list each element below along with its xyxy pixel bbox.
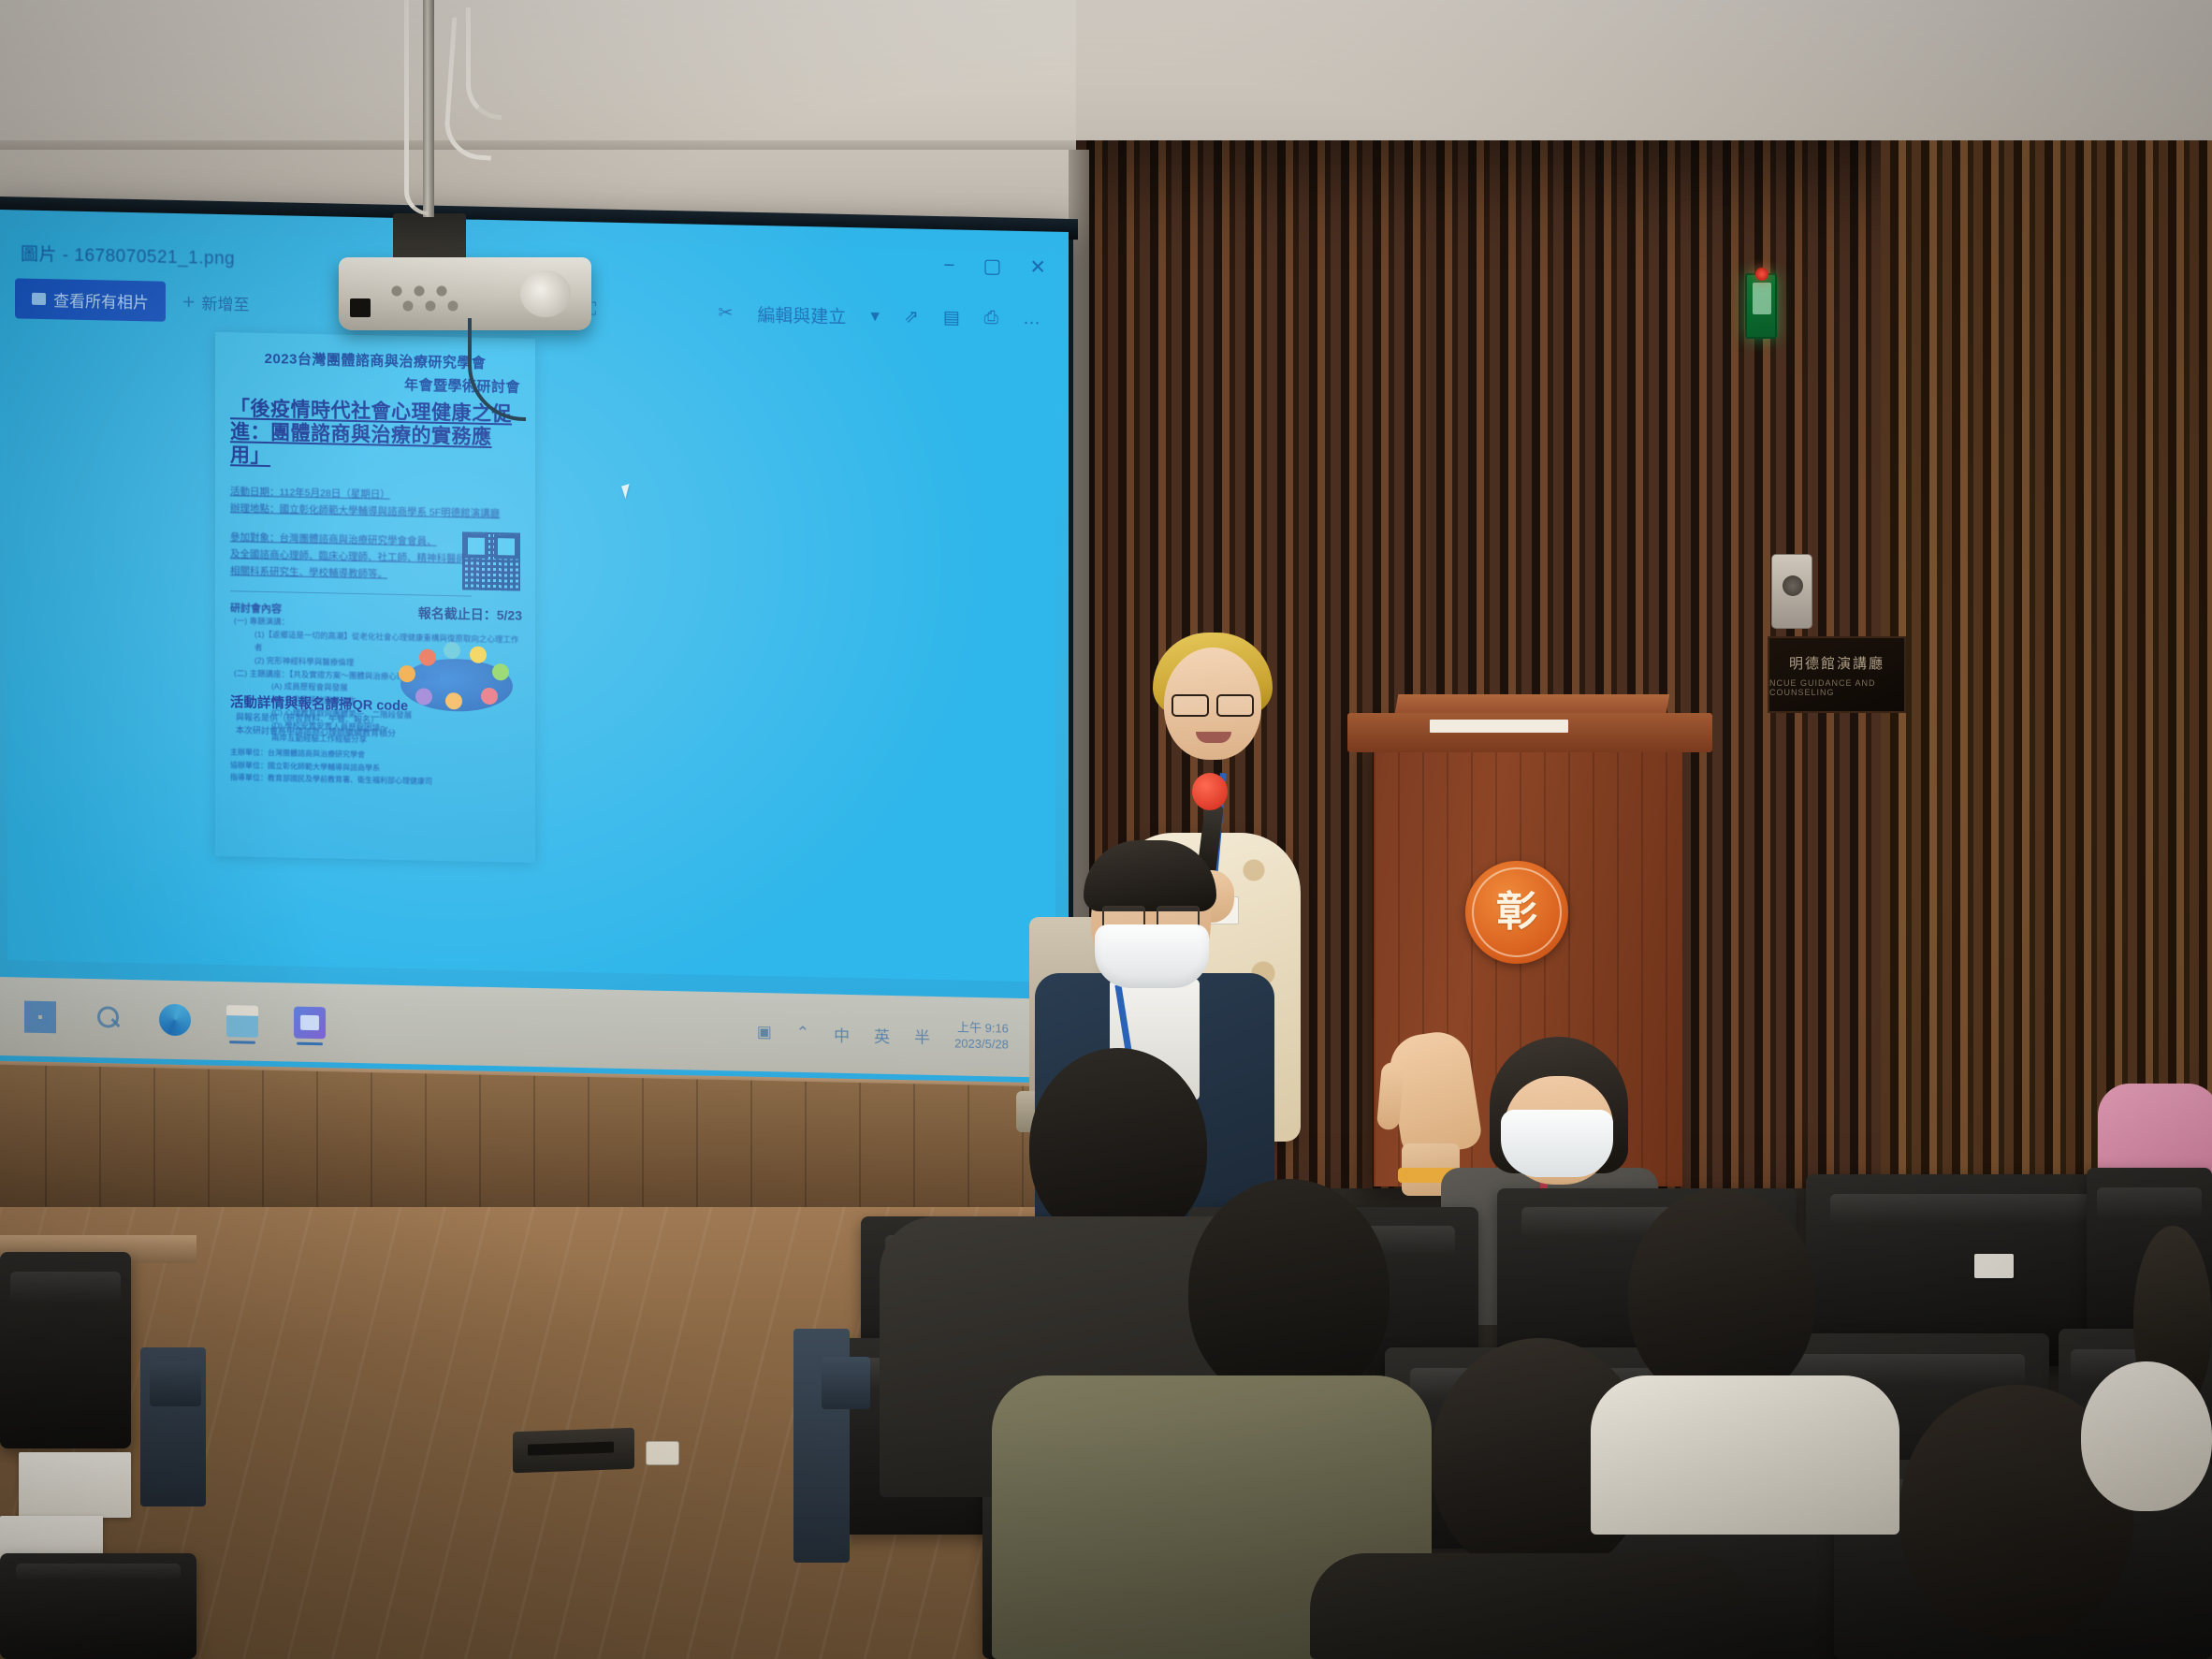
plus-icon: + [182,289,195,314]
print-icon[interactable]: ⎙ [984,308,998,328]
qr-code [462,531,520,590]
wall-plaque-line-2: NCUE GUIDANCE AND COUNSELING [1769,678,1904,697]
file-explorer-icon[interactable] [226,1005,258,1038]
audience-shoulders-3 [1310,1553,1750,1659]
chevron-down-icon[interactable]: ▾ [870,305,880,327]
start-button-icon[interactable] [24,1001,56,1034]
ceiling-projector [339,257,591,330]
chair-left-b [0,1553,196,1659]
conference-room-scene: 明德館演講廳 NCUE GUIDANCE AND COUNSELING 圖片 -… [0,0,2212,1659]
edge-icon[interactable] [159,1004,191,1037]
podium-emblem: 彰 [1465,861,1568,964]
add-to-label: 新增至 [201,290,249,314]
projector-cable-2 [466,7,502,120]
podium-paper [1430,720,1568,733]
poster-deadline-label: 報名截止日： [418,605,497,622]
ime-mode-2[interactable]: 英 [874,1023,890,1046]
taskbar-icons [0,1000,326,1039]
chair-tablet-arm-center-pad [822,1357,870,1409]
podium-emblem-glyph: 彰 [1496,892,1537,933]
projector-vents [387,284,466,315]
audience-shoulders-6 [2081,1361,2212,1511]
emergency-light-icon [1755,268,1768,281]
poster-meta: 活動日期：112年5月28日（星期日） 辦理地點：國立彰化師範大學輔導與諮商學系… [230,484,520,522]
slideshow-icon[interactable]: ▤ [943,307,960,328]
poster-qr-cta-sub: 與報名是供（研習資料、午餐、報名） 本次研討會將申請諮商心理師繼續教育積分 [236,710,396,740]
illustration-figure-2 [419,648,436,665]
exit-sign [1745,273,1777,339]
photos-grid-icon [32,292,46,304]
projector-cable-3 [404,0,429,215]
windows-taskbar: ▣ ⌃ 中 英 半 上午 9:16 2023/5/28 ▤ [0,977,1069,1078]
view-all-photos-label: 查看所有相片 [53,287,149,313]
edit-create-icon: ✂ [718,302,733,324]
illustration-figure-5 [492,663,509,680]
network-icon[interactable]: ▣ [757,1023,772,1041]
audience-shoulders-4 [1591,1375,1899,1535]
mouse-cursor [621,484,633,499]
attendee-glasses [1102,906,1200,926]
edit-create-label[interactable]: 編輯與建立 [757,300,846,327]
poster-image[interactable]: 2023台灣團體諮商與治療研究學會 年會暨學術研討會 「後疫情時代社會心理健康之… [215,332,535,863]
photos-app-window[interactable]: 圖片 - 1678070521_1.png − ▢ ✕ 查看所有相片 + 新增至 [7,230,1055,982]
illustration-figure-1 [399,665,415,682]
wood-slat-wall-right [1881,140,2212,1244]
poster-venue-label: 辦理地點： [230,502,280,515]
projection-screen: 圖片 - 1678070521_1.png − ▢ ✕ 查看所有相片 + 新增至 [0,210,1069,1102]
speaker-glasses [1171,694,1254,713]
clock-time: 上午 9:16 [954,1021,1009,1038]
projector-port [350,298,371,317]
active-indicator [229,1041,255,1044]
wall-outlet [646,1441,679,1465]
poster-footer: 主辦單位：台灣團體諮商與治療研究學會 協辦單位：國立彰化師範大學輔導與諮商學系 … [230,746,432,788]
audience-head-4 [1628,1188,1815,1404]
questioner-face-mask [1501,1110,1613,1177]
share-icon[interactable]: ⇗ [904,306,919,327]
ime-mode-1[interactable]: 中 [834,1022,850,1045]
taskbar-clock[interactable]: 上午 9:16 2023/5/28 [954,1021,1009,1054]
poster-venue-value: 國立彰化師範大學輔導與諮商學系 5F明德館演講廳 [280,503,501,519]
poster-title: 「後疫情時代社會心理健康之促進：團體諮商與治療的實務應用」 [230,398,520,473]
window-controls: − ▢ ✕ [943,255,1046,277]
minimize-button[interactable]: − [943,255,954,275]
close-button[interactable]: ✕ [1029,257,1046,277]
system-tray: ▣ ⌃ 中 英 半 上午 9:16 2023/5/28 ▤ [757,1016,1069,1055]
projector-mount [393,213,466,262]
view-all-photos-button[interactable]: 查看所有相片 [15,278,166,321]
maximize-button[interactable]: ▢ [983,256,1002,276]
attendee-face-mask [1095,924,1209,988]
poster-deadline: 報名截止日：5/23 [418,604,522,624]
photos-icon[interactable] [294,1007,326,1040]
wall-plaque-line-1: 明德館演講廳 [1789,653,1885,673]
active-indicator [297,1042,323,1046]
chair-left-tablet-arm-b [150,1361,201,1406]
illustration-figure-8 [415,688,432,705]
ime-mode-3[interactable]: 半 [914,1024,930,1047]
illustration-figure-6 [481,688,498,705]
poster-divider [230,591,472,597]
poster-date-value: 112年5月28日（星期日） [280,488,390,501]
clock-date: 2023/5/28 [954,1036,1009,1053]
floor-cable-box [513,1428,634,1474]
toolbar-right-group: ✂ 編輯與建立 ▾ ⇗ ▤ ⎙ … [718,288,1041,343]
illustration-figure-3 [444,642,460,659]
chevron-up-icon[interactable]: ⌃ [796,1024,809,1042]
poster-deadline-value: 5/23 [497,607,522,623]
audience-head-1 [1029,1048,1207,1244]
microphone-head [1192,773,1228,810]
speaker-mouth [1196,732,1231,743]
chair-tag-2 [1974,1254,2014,1278]
wall-speaker [1771,554,1812,629]
poster-date-label: 活動日期： [230,486,280,498]
poster-audience-label: 參加對象： [230,531,280,544]
more-options-icon[interactable]: … [1023,309,1041,329]
handout-paper-1 [19,1452,131,1518]
chair-left-a [0,1252,131,1448]
illustration-figure-7 [445,692,462,709]
search-icon[interactable] [92,1002,124,1035]
audience-head-2 [1188,1179,1390,1404]
wall-plaque: 明德館演講廳 NCUE GUIDANCE AND COUNSELING [1768,636,1906,713]
poster-audience-line-0: 台灣團體諮商與治療研究學會會員、 [280,532,437,547]
window-title: 圖片 - 1678070521_1.png [21,240,235,269]
add-to-button[interactable]: + 新增至 [182,289,249,315]
poster-illustration [391,633,522,717]
illustration-figure-4 [470,647,487,663]
